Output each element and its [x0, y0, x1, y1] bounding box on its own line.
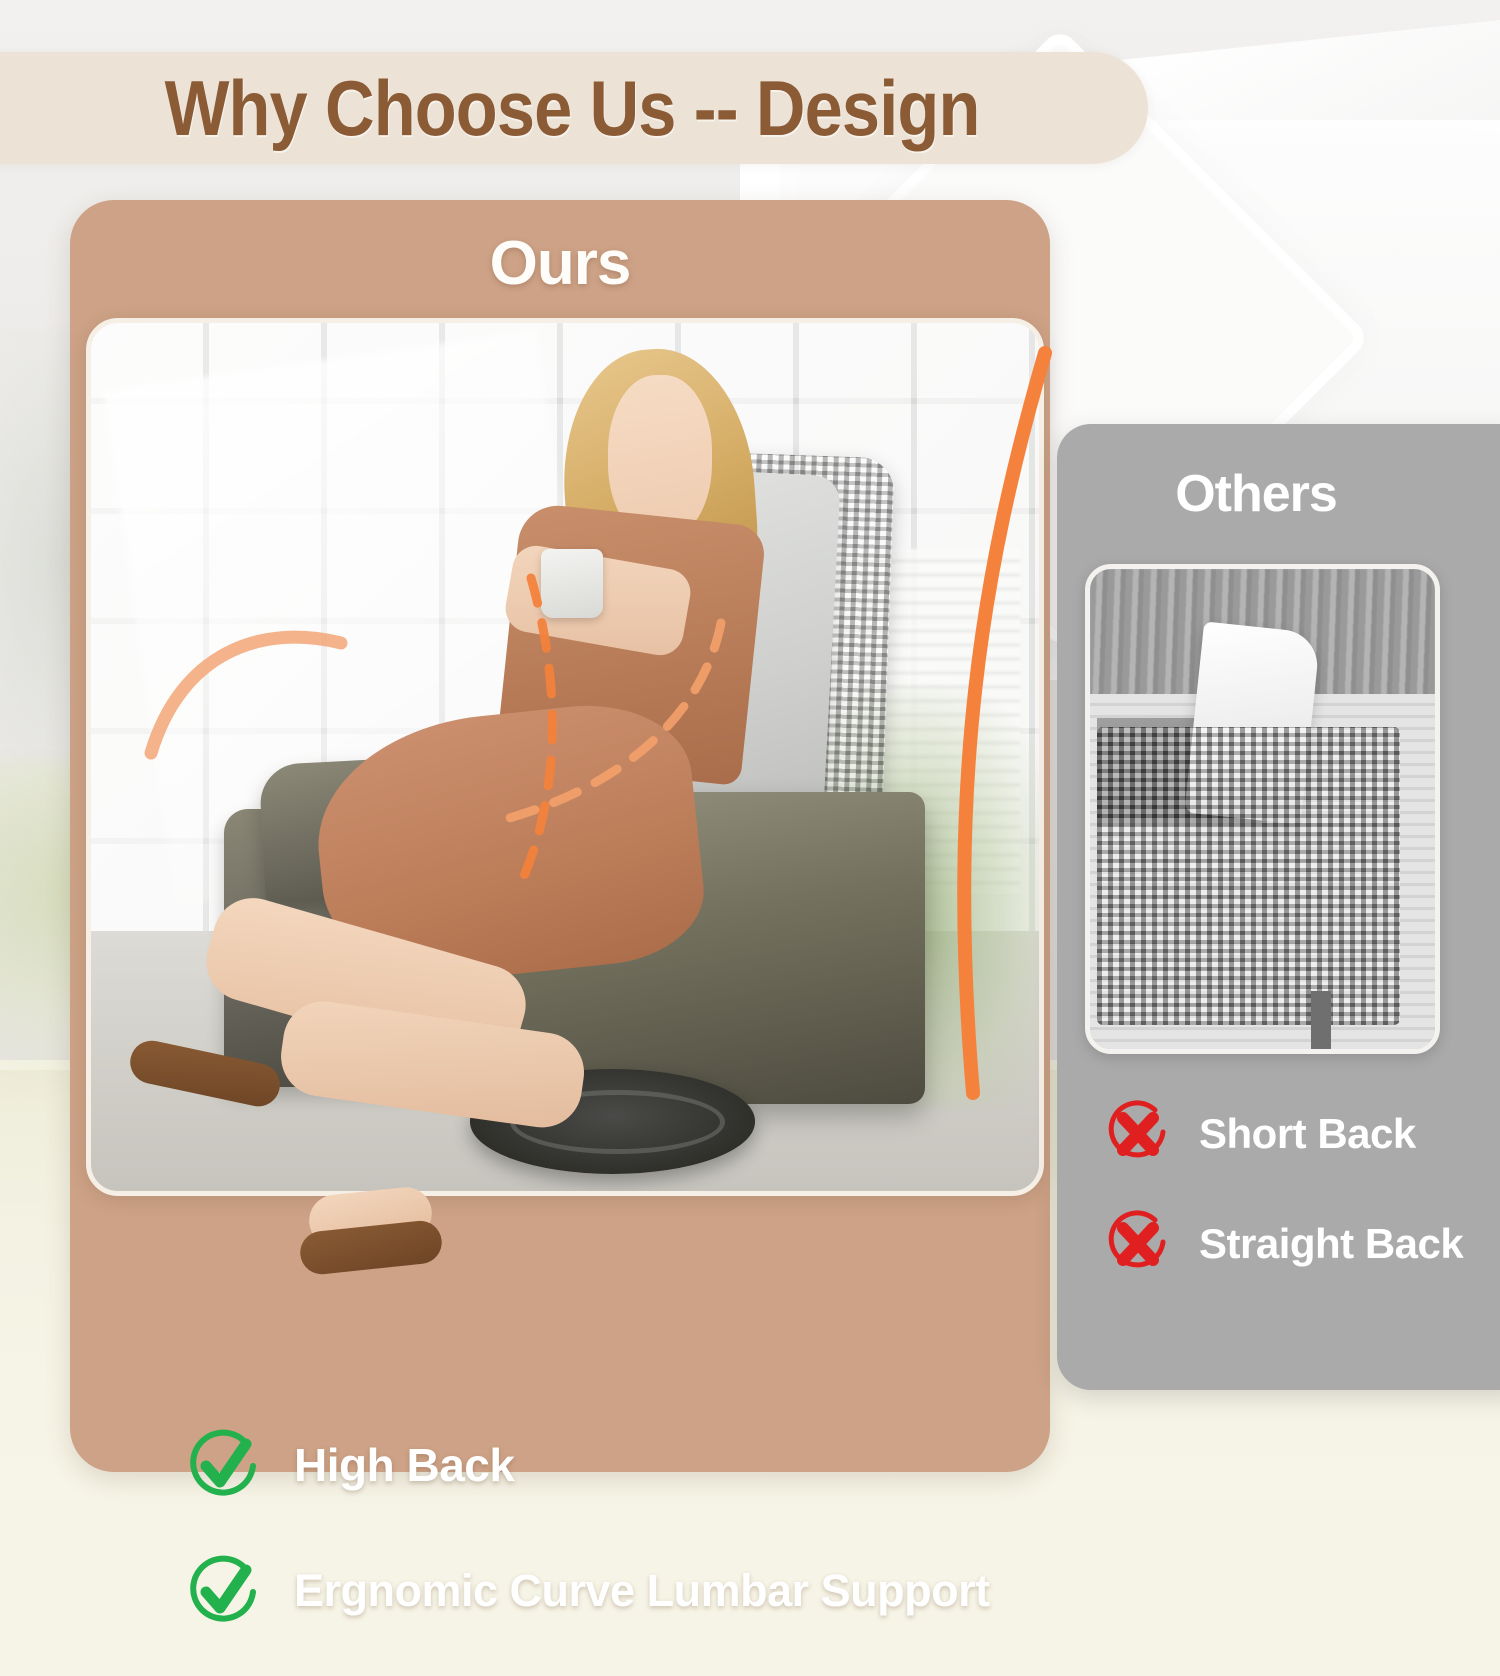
list-item: Straight Back — [1103, 1208, 1500, 1280]
feature-label: Ergnomic Curve Lumbar Support — [294, 1565, 990, 1617]
page-title: Why Choose Us -- Design — [165, 63, 980, 154]
red-cross-icon — [1103, 1208, 1175, 1280]
others-sofa-body — [1097, 727, 1401, 1025]
red-cross-icon — [1103, 1098, 1175, 1170]
ours-label: Ours — [70, 228, 1050, 299]
drawback-label: Straight Back — [1199, 1220, 1463, 1268]
green-check-icon — [182, 1550, 264, 1632]
ours-feature-list: High Back Ergnomic Curve Lumbar Support — [182, 1424, 1082, 1676]
others-product-photo — [1085, 564, 1440, 1054]
list-item: High Back — [182, 1424, 1082, 1506]
lumbar-outer-curve — [895, 343, 1075, 1103]
others-sofa-leg — [1311, 991, 1332, 1049]
others-label: Others — [1057, 464, 1455, 524]
ours-panel: Ours — [70, 200, 1050, 1472]
header-banner: Why Choose Us -- Design — [0, 52, 1148, 164]
others-panel: Others Short Back Straight Back — [1057, 424, 1500, 1390]
green-check-icon — [182, 1424, 264, 1506]
feature-label: High Back — [294, 1438, 514, 1492]
list-item: Short Back — [1103, 1098, 1500, 1170]
drawback-label: Short Back — [1199, 1110, 1416, 1158]
others-drawback-list: Short Back Straight Back — [1103, 1098, 1500, 1318]
ours-product-photo — [86, 318, 1044, 1196]
model-mug — [541, 549, 603, 618]
list-item: Ergnomic Curve Lumbar Support — [182, 1550, 1082, 1632]
